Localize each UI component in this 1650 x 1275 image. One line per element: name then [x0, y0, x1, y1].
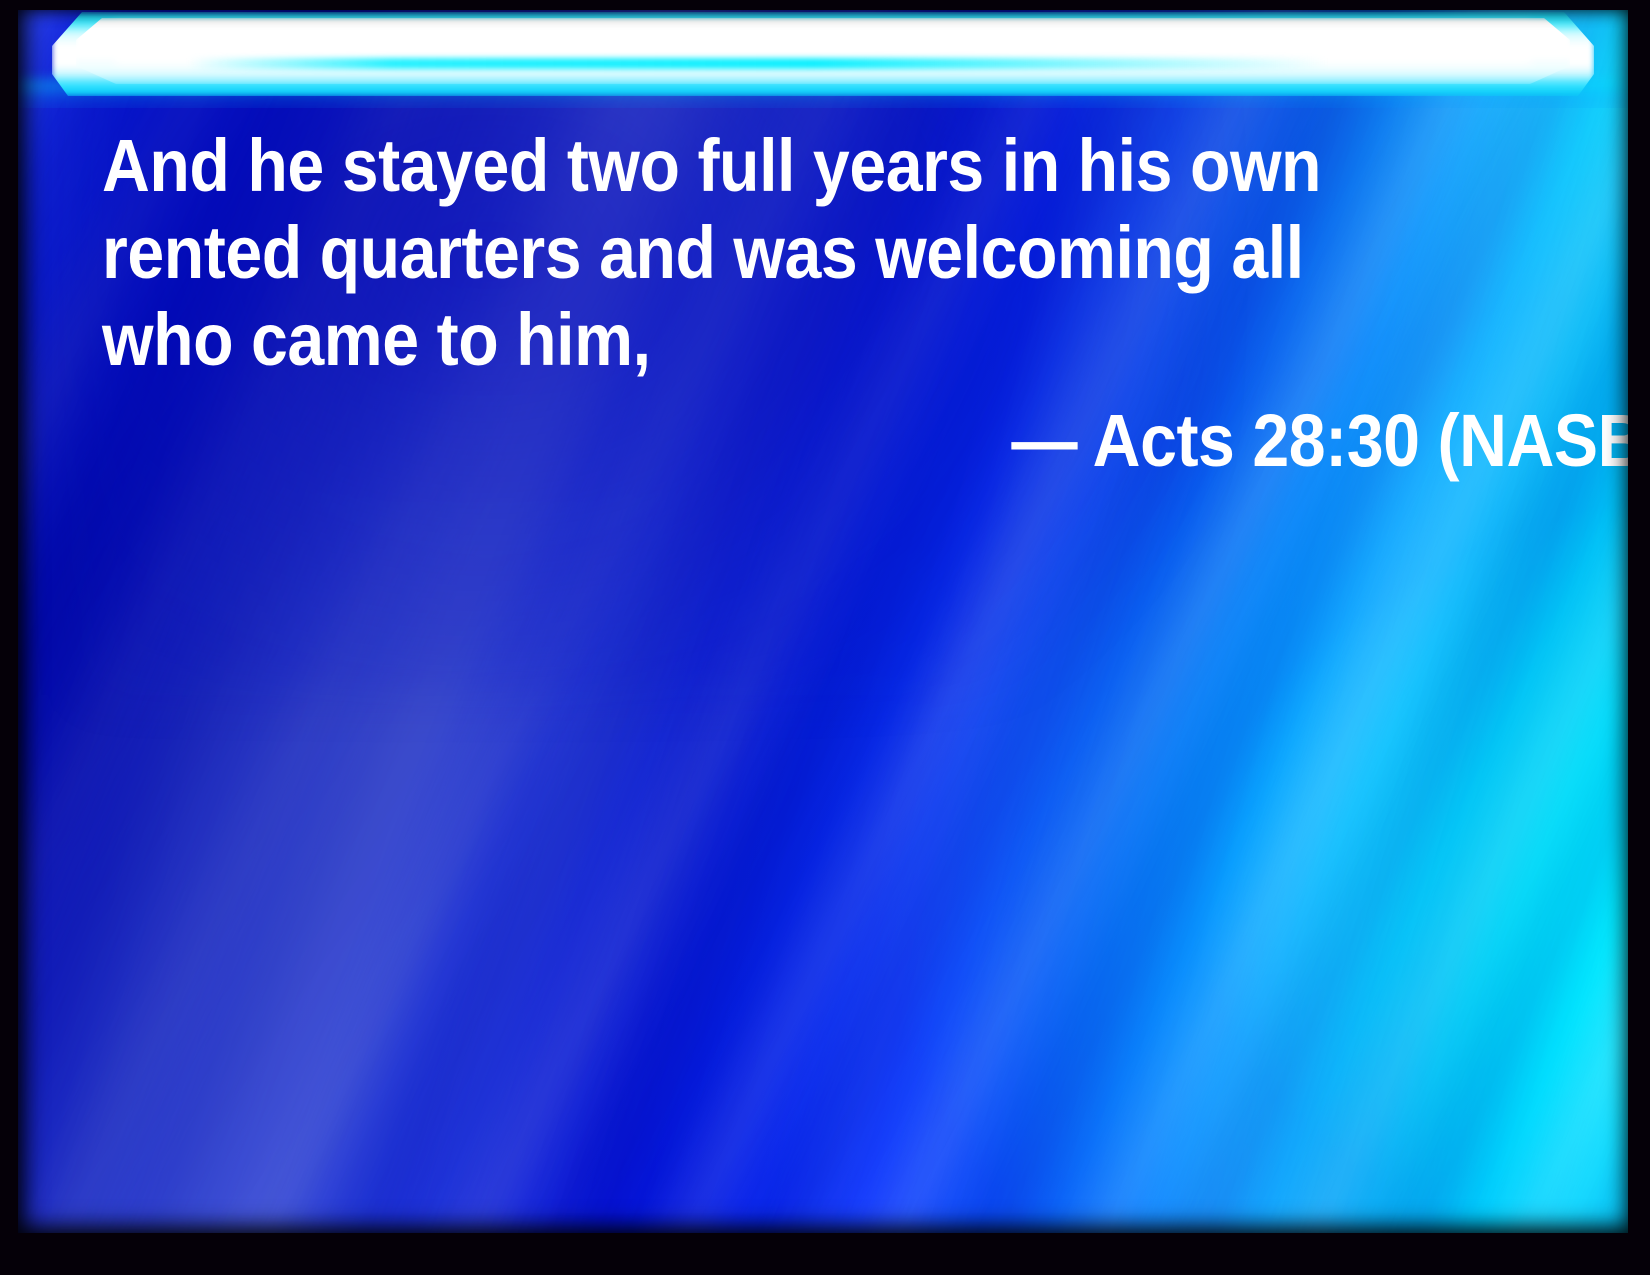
slide-stage: And he stayed two full years in his own …	[18, 10, 1628, 1233]
edge-vignette	[18, 10, 1628, 1233]
verse-slide: And he stayed two full years in his own …	[0, 0, 1650, 1275]
